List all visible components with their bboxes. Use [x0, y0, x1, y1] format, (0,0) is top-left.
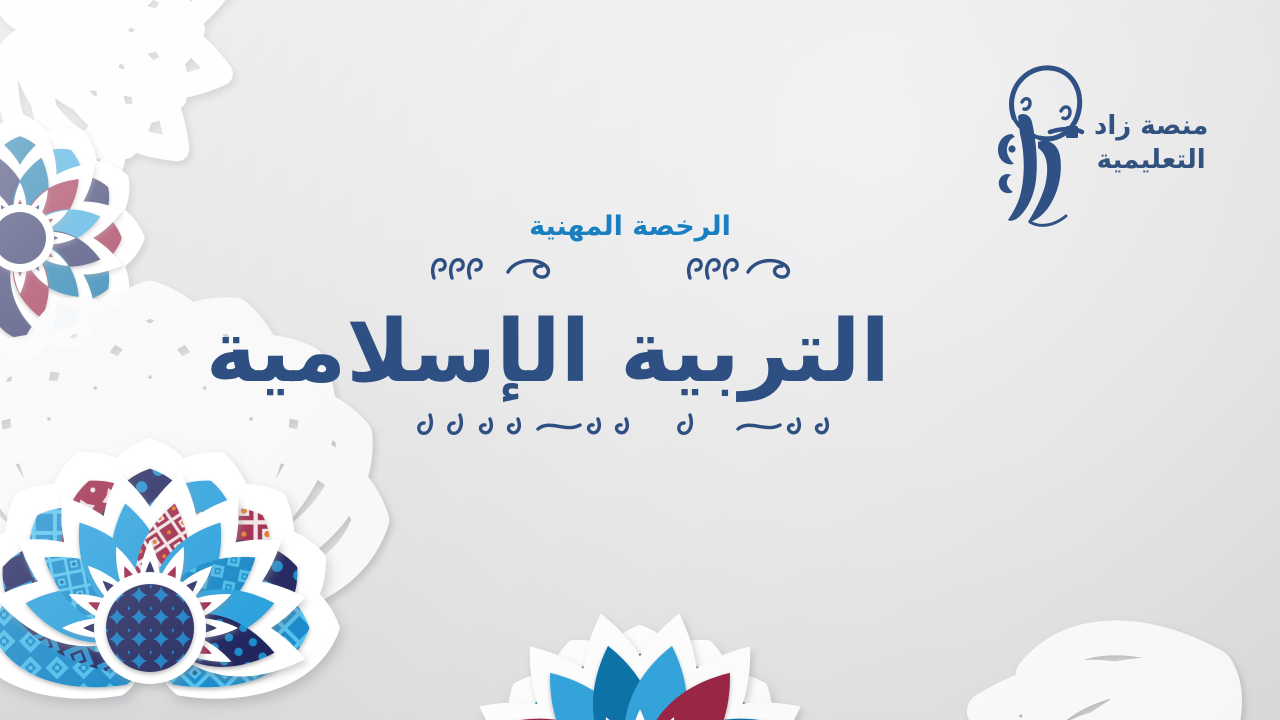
slide-canvas: منصة زاد التعليمية — [0, 0, 1280, 720]
content-layer: منصة زاد التعليمية — [0, 0, 1280, 720]
zad-calligraphy-emblem-icon — [978, 56, 1088, 231]
page-subtitle: الرخصة المهنية — [370, 212, 890, 242]
logo: منصة زاد التعليمية — [978, 48, 1218, 238]
logo-text: منصة زاد التعليمية — [1094, 109, 1208, 178]
logo-line-2: التعليمية — [1094, 143, 1208, 177]
title-bottom-flourish-icon — [390, 409, 870, 439]
title-block: الرخصة المهنية التربية الإسلامية — [370, 212, 890, 443]
logo-line-1: منصة زاد — [1094, 109, 1208, 143]
page-title: التربية الإسلامية — [370, 300, 890, 405]
title-top-flourish-icon — [390, 252, 870, 282]
